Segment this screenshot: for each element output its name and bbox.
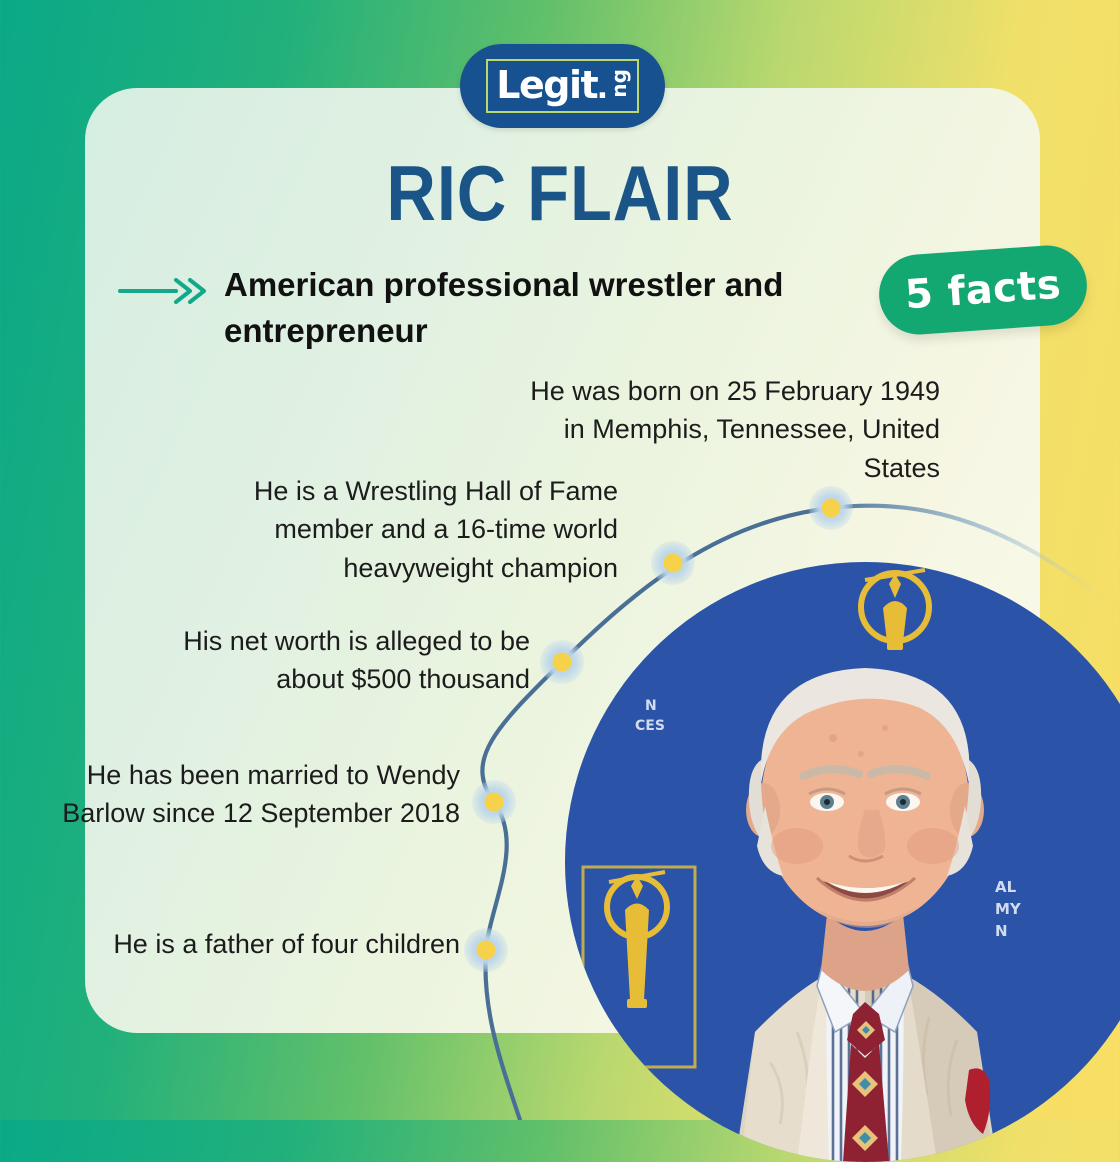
svg-text:MY: MY bbox=[995, 900, 1022, 918]
arrow-right-icon bbox=[118, 278, 210, 304]
subtitle-block: American professional wrestler and entre… bbox=[118, 262, 878, 353]
svg-text:CES: CES bbox=[635, 718, 665, 734]
fact-item-2: He is a Wrestling Hall of Fame member an… bbox=[190, 472, 618, 587]
svg-text:N: N bbox=[995, 922, 1008, 940]
fact-item-4: He has been married to Wendy Barlow sinc… bbox=[30, 756, 460, 833]
fact-item-5: He is a father of four children bbox=[50, 925, 460, 963]
fact-item-3: His net worth is alleged to be about $50… bbox=[110, 622, 530, 699]
page-subtitle: American professional wrestler and entre… bbox=[224, 262, 844, 353]
fact-item-1: He was born on 25 February 1949 in Memph… bbox=[520, 372, 940, 487]
legit-ng-logo[interactable]: Legit . ng bbox=[460, 44, 665, 128]
svg-text:AL: AL bbox=[995, 878, 1017, 896]
svg-text:N: N bbox=[645, 698, 657, 714]
logo-wordmark: Legit bbox=[496, 63, 597, 107]
logo-tld: ng bbox=[609, 69, 629, 98]
page-title: RIC FLAIR bbox=[67, 148, 1053, 239]
facts-count-badge: 5 facts bbox=[876, 243, 1089, 337]
logo-frame: Legit . ng bbox=[486, 59, 638, 113]
facts-count-label: 5 facts bbox=[903, 262, 1062, 319]
